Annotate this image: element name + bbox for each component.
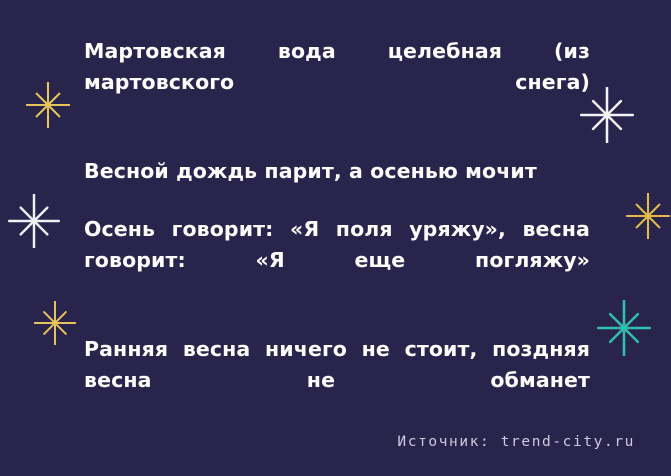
star-middle-right-icon	[625, 193, 671, 239]
star-middle-left-icon	[7, 194, 61, 248]
saying-3: Осень говорит: «Я поля уряжу», весна гов…	[84, 214, 590, 307]
star-bottom-right-icon	[596, 300, 652, 356]
star-top-left-icon	[25, 82, 71, 128]
star-bottom-left-icon	[33, 301, 77, 345]
poster-canvas: Мартовская вода целебная (из мартовского…	[0, 0, 671, 476]
saying-1: Мартовская вода целебная (из мартовского…	[84, 36, 590, 129]
sayings-list: Мартовская вода целебная (из мартовского…	[84, 36, 590, 427]
saying-4: Ранняя весна ничего не стоит, поздняя ве…	[84, 334, 590, 427]
source-credit: Источник: trend-city.ru	[397, 434, 635, 450]
saying-2: Весной дождь парит, а осенью мочит	[84, 156, 590, 187]
